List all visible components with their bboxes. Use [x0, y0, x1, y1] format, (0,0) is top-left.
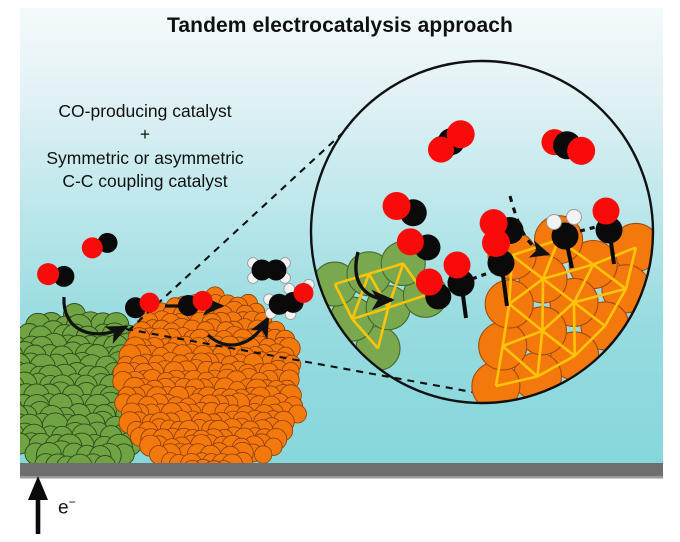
figure-root: Tandem electrocatalysis approach CO-prod… — [0, 0, 680, 542]
ethylene-molecule — [248, 258, 291, 284]
legend-line-2: + — [24, 123, 266, 146]
electron-symbol: e — [58, 497, 69, 518]
co-adsorbate — [444, 252, 475, 319]
ethanol-molecule — [260, 278, 320, 324]
legend-line-3: Symmetric or asymmetric — [24, 147, 266, 170]
electrode-bar — [20, 463, 663, 479]
catalyst-legend: CO-producing catalyst + Symmetric or asy… — [24, 100, 266, 193]
c-c-coupling-arrow — [472, 272, 491, 279]
legend-line-4: C-C coupling catalyst — [24, 170, 266, 193]
legend-line-1: CO-producing catalyst — [24, 100, 266, 123]
magnified-green-lattice — [313, 242, 448, 371]
co2-molecule — [422, 115, 480, 169]
c-c-coupling-arrow — [580, 227, 596, 231]
electron-charge-sign: − — [69, 495, 76, 509]
page-title: Tandem electrocatalysis approach — [0, 14, 680, 38]
co-molecule — [79, 230, 120, 261]
co2-molecule — [538, 125, 599, 167]
co-molecule — [378, 188, 431, 231]
figure-canvas — [0, 0, 680, 542]
electron-flow-arrow — [28, 476, 48, 534]
electron-label: e− — [58, 495, 76, 519]
co-molecule — [36, 262, 76, 289]
